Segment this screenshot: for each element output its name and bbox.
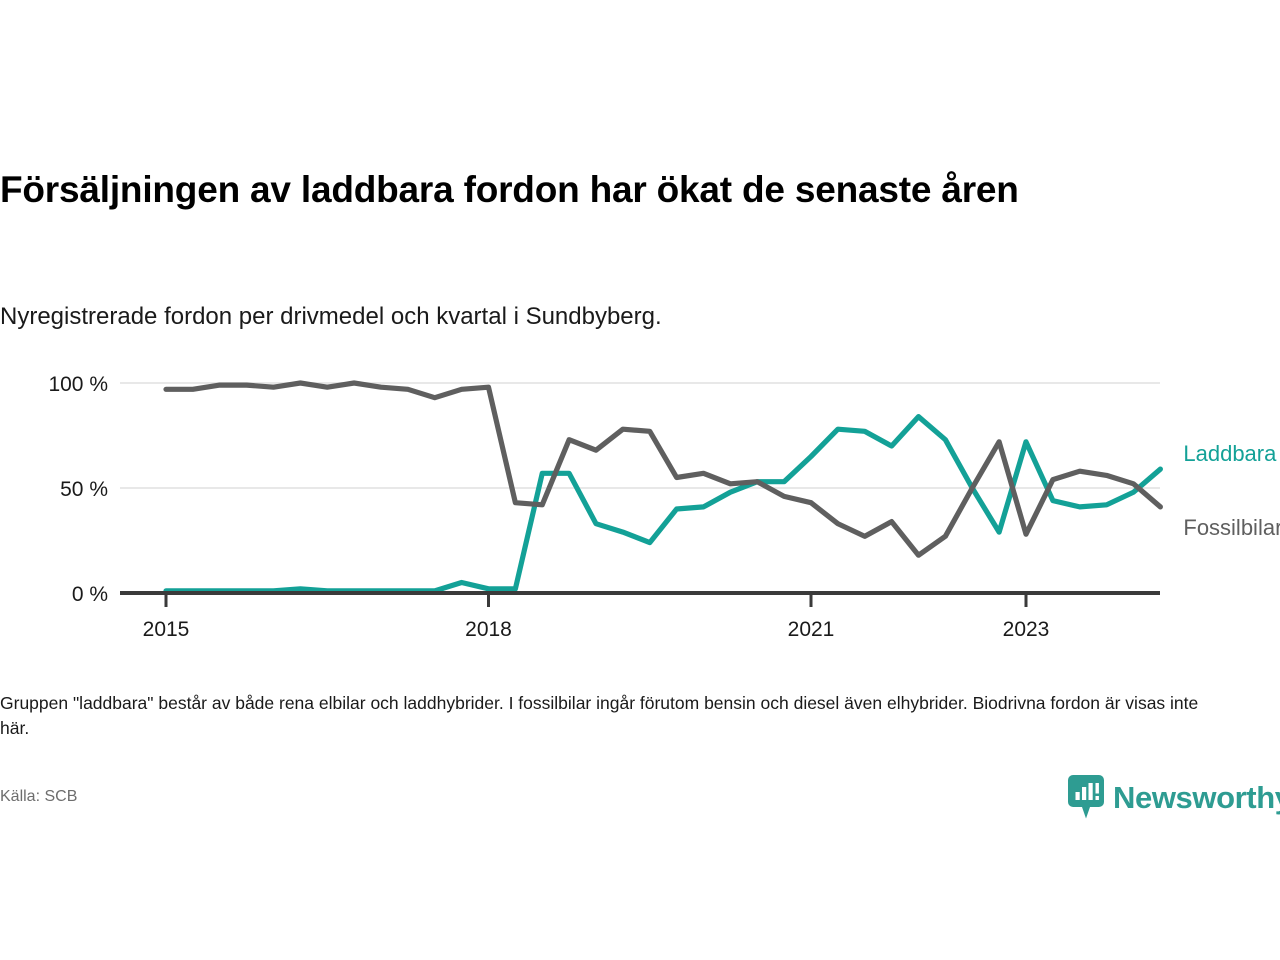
legend-label-laddbara[interactable]: Laddbara	[1183, 441, 1277, 466]
chart-footnote: Gruppen "laddbara" består av både rena e…	[0, 691, 1215, 741]
y-tick-label-100: 100 %	[48, 373, 108, 396]
series-lines	[166, 383, 1160, 591]
x-tick-label-2021: 2021	[788, 618, 835, 640]
x-axis	[120, 593, 1160, 607]
line-chart: 0 %50 %100 % 2015201820212023 LaddbaraFo…	[0, 360, 1280, 640]
chart-legend: LaddbaraFossilbilar	[1183, 441, 1280, 540]
newsworthy-logo[interactable]: Newsworthy	[1068, 774, 1280, 820]
series-line-laddbara	[166, 417, 1160, 591]
logo-wordmark: Newsworthy	[1113, 782, 1280, 813]
y-tick-label-50: 50 %	[60, 478, 108, 501]
source-note: Källa: SCB	[0, 788, 77, 806]
chart-page: Försäljningen av laddbara fordon har öka…	[0, 0, 1280, 960]
x-axis-labels: 2015201820212023	[143, 618, 1050, 640]
y-axis-labels: 0 %50 %100 %	[48, 373, 108, 606]
newsworthy-bars-bubble-icon	[1068, 775, 1104, 819]
y-tick-label-0: 0 %	[72, 583, 108, 606]
chart-container: 0 %50 %100 % 2015201820212023 LaddbaraFo…	[0, 360, 1280, 640]
page-title: Försäljningen av laddbara fordon har öka…	[0, 167, 1230, 213]
x-tick-label-2018: 2018	[465, 618, 512, 640]
legend-label-fossilbilar[interactable]: Fossilbilar	[1183, 515, 1280, 540]
chart-subtitle: Nyregistrerade fordon per drivmedel och …	[0, 301, 1230, 333]
x-tick-label-2015: 2015	[143, 618, 190, 640]
x-tick-label-2023: 2023	[1003, 618, 1050, 640]
gridlines	[120, 383, 1160, 488]
